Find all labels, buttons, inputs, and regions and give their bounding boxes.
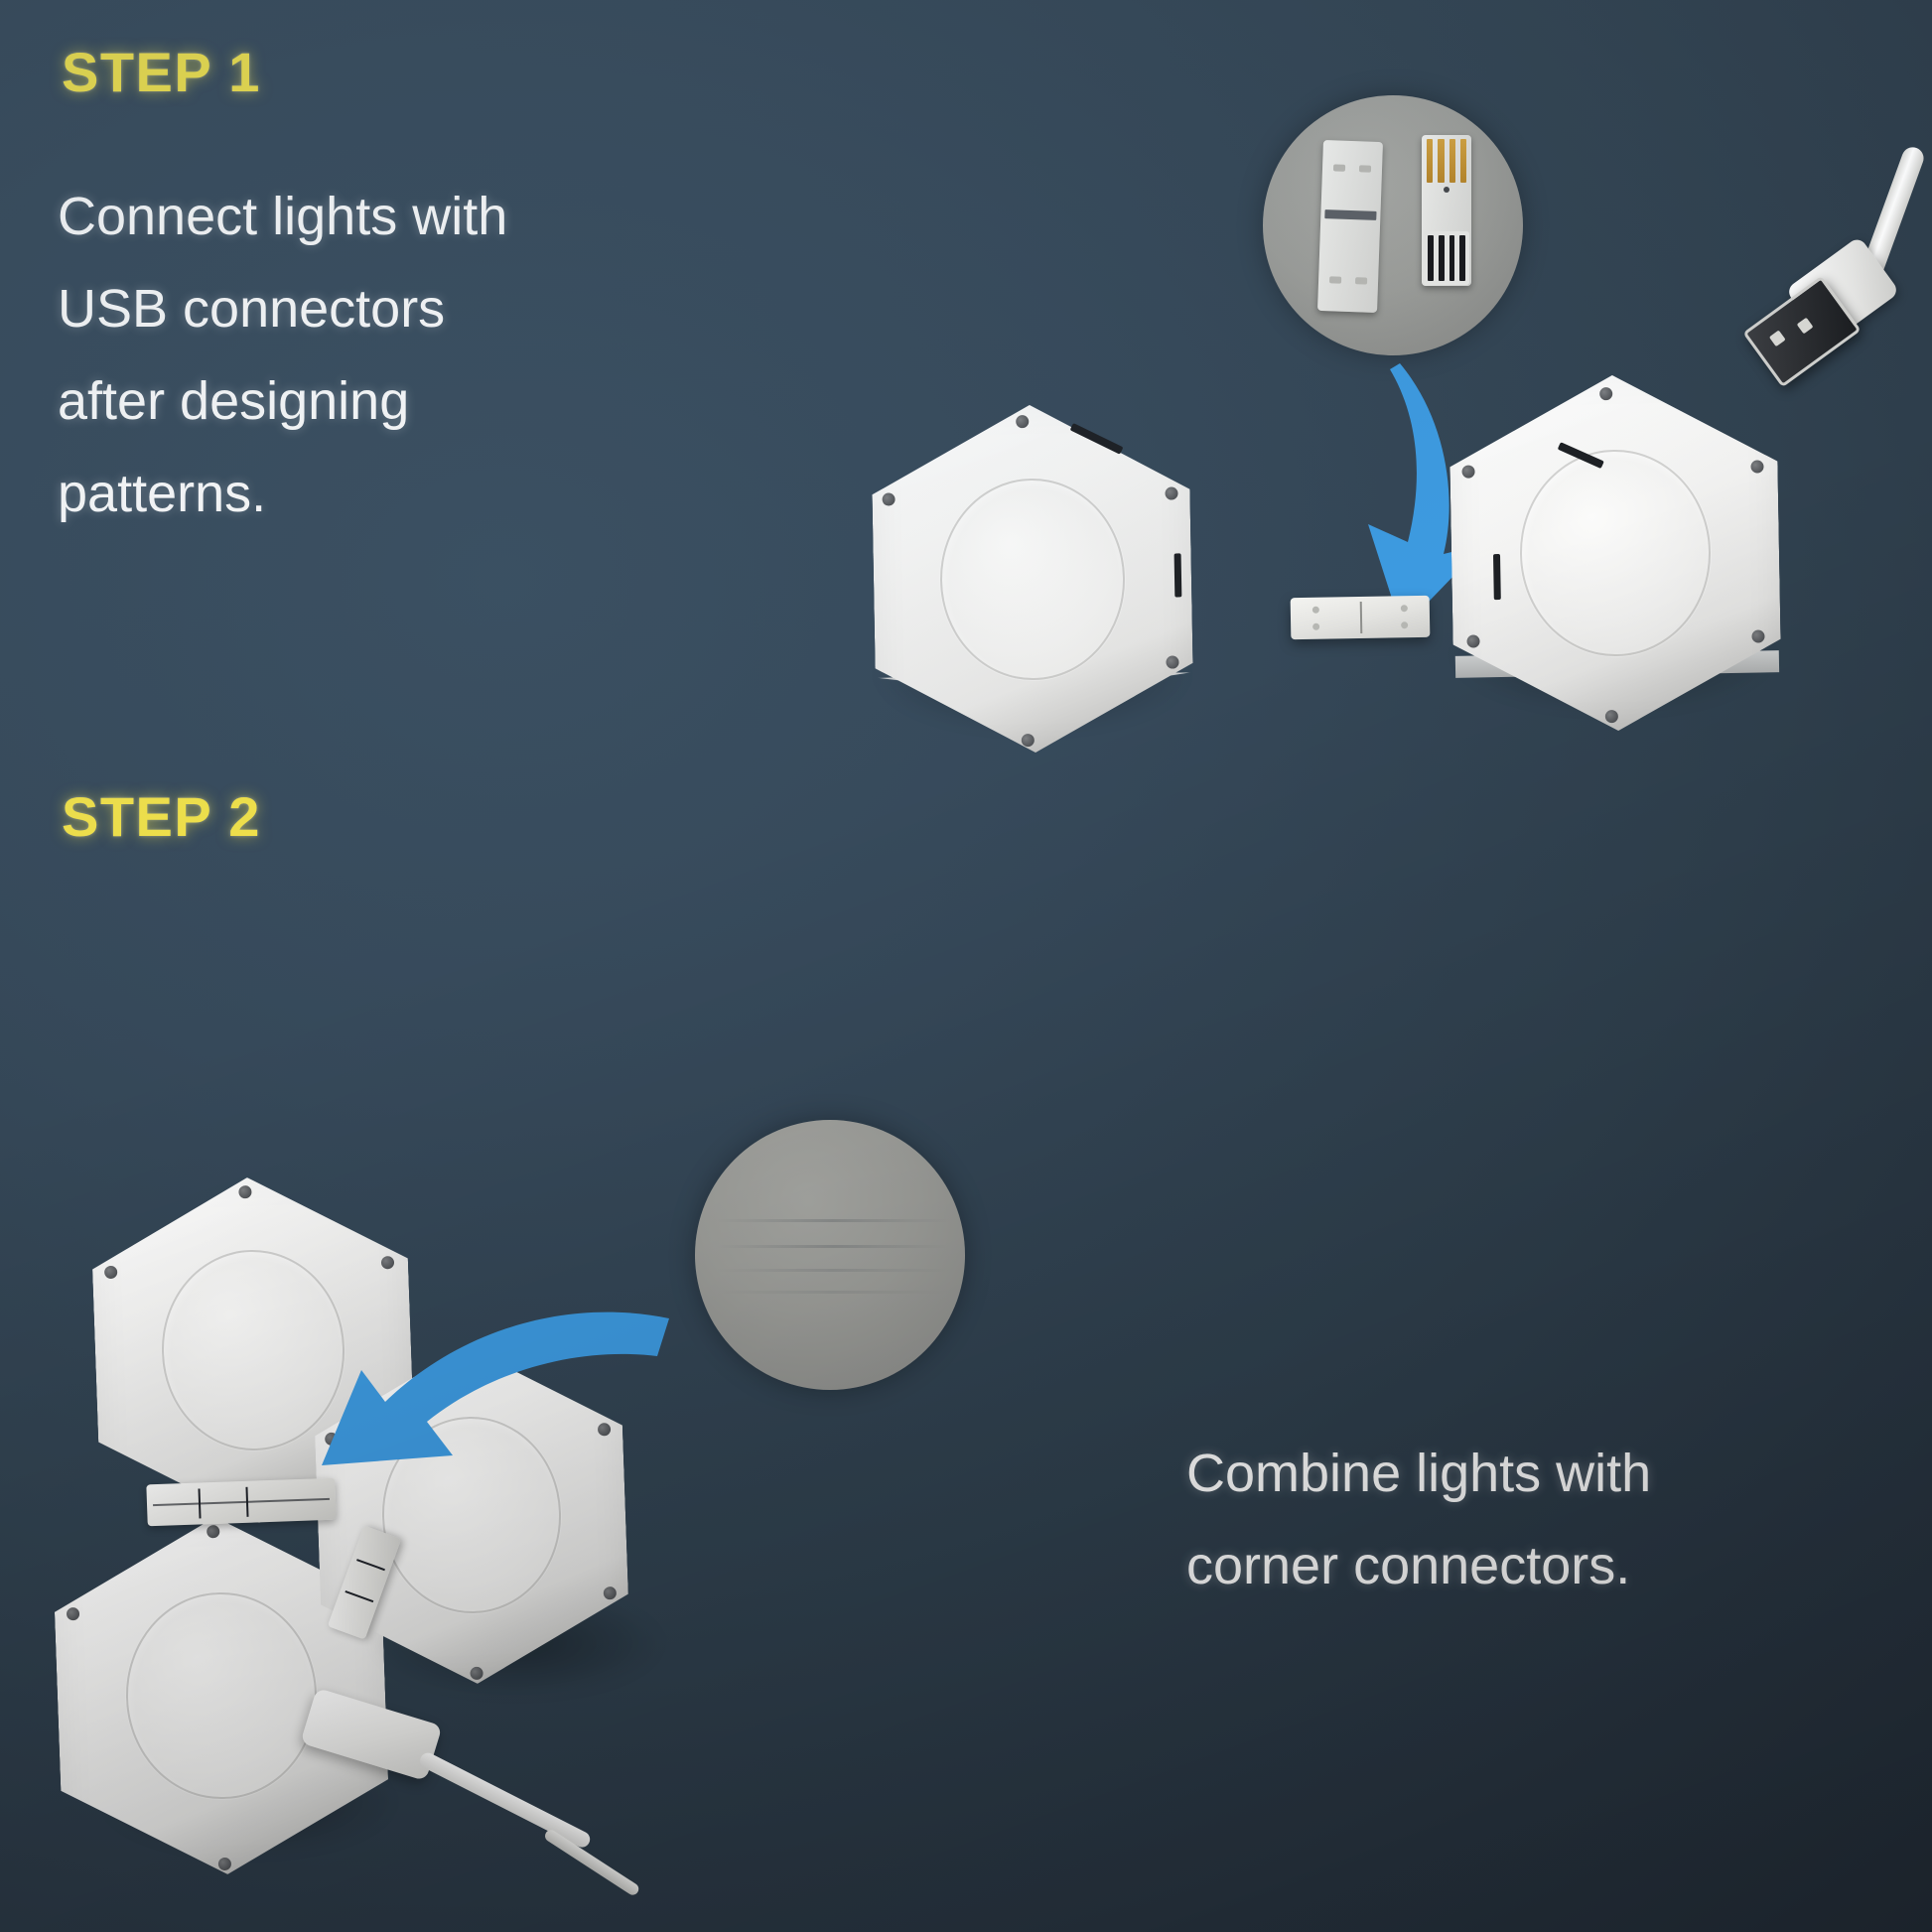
usb-connector-macro-inset	[1263, 95, 1523, 355]
infographic-canvas: STEP 1 Connect lights with USB connector…	[0, 0, 1932, 1932]
step-1-label: STEP 1	[62, 40, 261, 104]
step-1-line-1: Connect lights with	[58, 171, 507, 263]
usb-a-cable-plug-icon	[1735, 139, 1932, 407]
step-2-line-2: corner connectors.	[1186, 1520, 1651, 1612]
usb-male-connector-icon	[1422, 135, 1471, 286]
corner-connector-macro-inset	[695, 1120, 965, 1390]
step-1-line-2: USB connectors	[58, 263, 507, 355]
step-2-paragraph: Combine lights with corner connectors.	[1186, 1428, 1651, 1612]
hex-panel-left	[871, 402, 1194, 756]
panel-side-slot	[1493, 554, 1501, 600]
step-1-line-4: patterns.	[58, 448, 507, 540]
hex-panel-right	[1449, 372, 1782, 734]
flat-usb-bridge-connector-icon	[1291, 596, 1431, 639]
panel-side-slot	[1174, 553, 1182, 597]
step-1-line-3: after designing	[58, 355, 507, 448]
step-2-label: STEP 2	[62, 784, 261, 849]
curved-arrow-icon-step2	[258, 1261, 675, 1519]
white-bridge-connector-icon	[1317, 140, 1383, 313]
step-2-line-1: Combine lights with	[1186, 1428, 1651, 1520]
usb-power-cable-icon	[298, 1688, 635, 1916]
step-1-paragraph: Connect lights with USB connectors after…	[58, 171, 507, 540]
